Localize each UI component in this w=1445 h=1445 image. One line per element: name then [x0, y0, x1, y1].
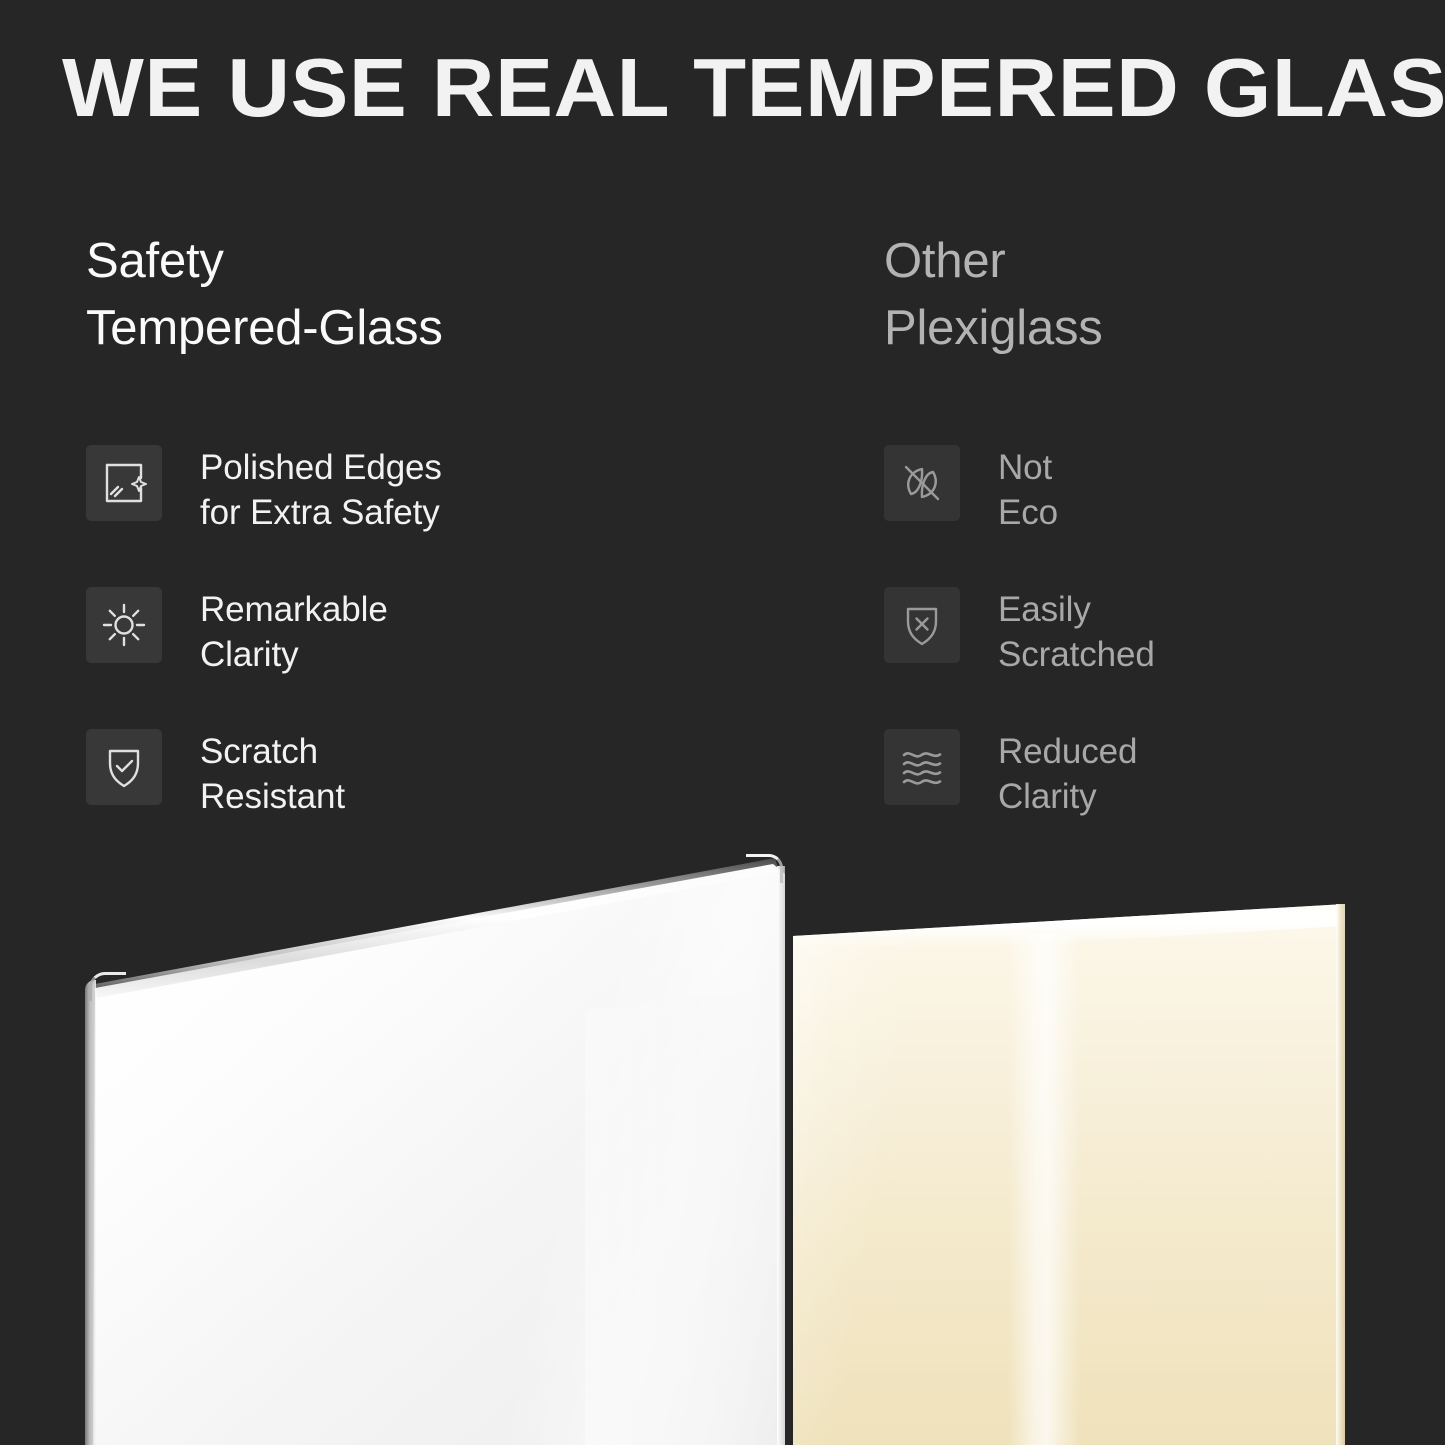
- sun-clarity-icon: [86, 587, 162, 663]
- feature-row-easily-scratched: Easily Scratched: [884, 585, 1424, 727]
- feature-label-polished-edges: Polished Edges for Extra Safety: [200, 443, 442, 535]
- product-comparison-graphic: WE USE REAL TEMPERED GLASS Safety Temper…: [0, 0, 1445, 1445]
- leaf-crossed-out-icon: [884, 445, 960, 521]
- plexiglass-reflection-highlight: [1008, 920, 1080, 1445]
- tempered-glass-corner-top-left: [89, 972, 126, 1001]
- column-title-tempered: Safety Tempered-Glass: [86, 228, 826, 362]
- feature-label-reduced-clarity: Reduced Clarity: [998, 727, 1137, 819]
- shield-x-icon: [884, 587, 960, 663]
- product-photo: [0, 840, 1445, 1445]
- feature-label-not-eco: Not Eco: [998, 443, 1058, 535]
- polished-glass-pane-icon: [86, 445, 162, 521]
- comparison-columns: Safety Tempered-Glass Polished Edges for…: [0, 228, 1445, 848]
- tempered-glass-corner-top-right: [746, 854, 783, 883]
- plexiglass-right-bevel: [1336, 904, 1345, 1445]
- tempered-glass-right-bevel: [777, 866, 785, 1445]
- column-tempered-glass: Safety Tempered-Glass Polished Edges for…: [86, 228, 826, 362]
- feature-row-polished-edges: Polished Edges for Extra Safety: [86, 443, 826, 585]
- column-title-plexiglass: Other Plexiglass: [884, 228, 1424, 362]
- feature-list-tempered: Polished Edges for Extra Safety Remarkab…: [86, 443, 826, 869]
- column-plexiglass: Other Plexiglass Not Eco: [884, 228, 1424, 362]
- tempered-glass-panel: [85, 840, 785, 1445]
- shield-check-icon: [86, 729, 162, 805]
- feature-row-not-eco: Not Eco: [884, 443, 1424, 585]
- feature-label-easily-scratched: Easily Scratched: [998, 585, 1155, 677]
- feature-row-remarkable-clarity: Remarkable Clarity: [86, 585, 826, 727]
- feature-list-plexiglass: Not Eco Easily Scratched: [884, 443, 1424, 869]
- page-title: WE USE REAL TEMPERED GLASS: [62, 40, 1445, 136]
- plexiglass-panel: [793, 840, 1345, 1445]
- tempered-glass-reflection: [585, 988, 785, 1445]
- tempered-glass-left-bevel: [85, 980, 96, 1445]
- feature-label-scratch-resistant: Scratch Resistant: [200, 727, 345, 819]
- feature-label-remarkable-clarity: Remarkable Clarity: [200, 585, 388, 677]
- wavy-lines-icon: [884, 729, 960, 805]
